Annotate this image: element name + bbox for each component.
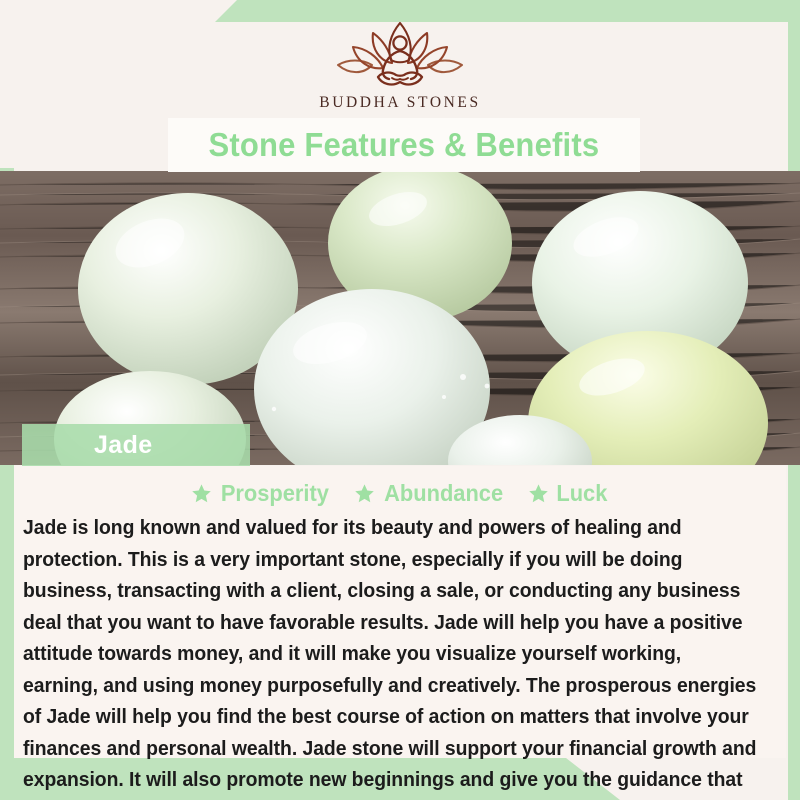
benefits-row: Prosperity Abundance Luck: [14, 466, 786, 510]
stone-name-bar: Jade: [22, 424, 250, 466]
benefit-item: Luck: [528, 480, 609, 507]
poster-root: BUDDHA STONES Stone Features & Benefits: [0, 0, 800, 800]
decor-band-right-lower: [788, 455, 800, 800]
title-banner: Stone Features & Benefits: [168, 118, 640, 172]
benefit-label: Abundance: [384, 480, 503, 507]
lotus-meditation-icon: [326, 18, 474, 90]
brand-name: BUDDHA STONES: [0, 94, 800, 112]
brand-header: BUDDHA STONES: [0, 18, 800, 112]
star-icon: [528, 483, 549, 504]
star-icon: [191, 483, 212, 504]
page-title: Stone Features & Benefits: [209, 126, 600, 164]
benefit-label: Prosperity: [221, 480, 329, 507]
jade-stones-photo: [0, 171, 800, 465]
benefit-label: Luck: [556, 480, 607, 507]
benefit-item: Prosperity: [191, 480, 332, 507]
stone-description: Jade is long known and valued for its be…: [23, 513, 756, 800]
stone-name: Jade: [94, 431, 153, 460]
content-panel: Prosperity Abundance Luck Jade is long k…: [14, 466, 786, 758]
benefit-item: Abundance: [354, 480, 506, 507]
star-icon: [354, 483, 375, 504]
